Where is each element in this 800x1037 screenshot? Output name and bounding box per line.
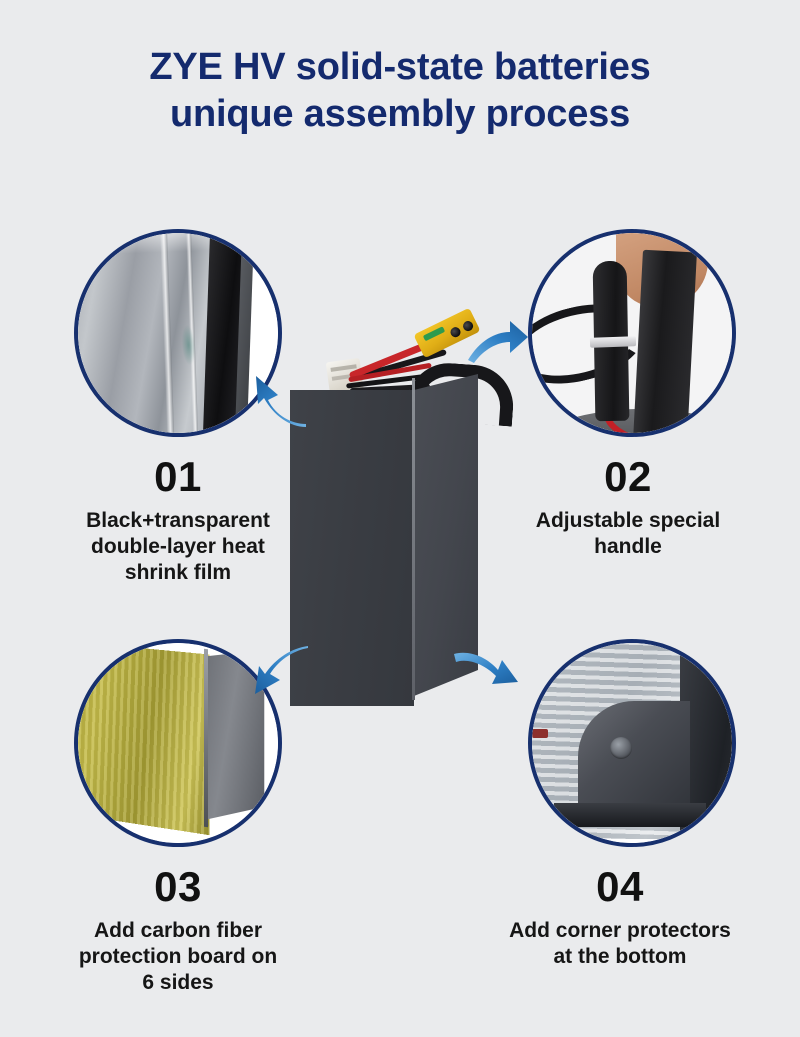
screw-hole-icon <box>610 737 632 759</box>
step-number-04: 04 <box>470 864 770 910</box>
step-text-02: Adjustable special handle <box>478 508 778 560</box>
step-text-01: Black+transparent double-layer heat shri… <box>28 508 328 586</box>
connector-green-stripe <box>423 326 445 341</box>
arrow-to-step-04-icon <box>452 648 522 699</box>
connector-pin-hole <box>449 326 462 339</box>
step-number-02: 02 <box>478 454 778 500</box>
strap-buckle <box>590 336 636 348</box>
step-photo-circle-01 <box>74 229 282 437</box>
title-line-1: ZYE HV solid-state batteries <box>0 44 800 91</box>
strap-tail <box>633 250 697 433</box>
title-line-2: unique assembly process <box>0 91 800 138</box>
battery-vertical-edge <box>412 378 415 700</box>
step-photo-circle-04 <box>528 639 736 847</box>
step-caption-04: 04 Add corner protectors at the bottom <box>470 864 770 970</box>
arrow-to-step-01-icon <box>252 374 308 433</box>
arrow-to-step-02-icon <box>466 318 530 369</box>
step-text-03: Add carbon fiber protection board on 6 s… <box>28 918 328 996</box>
corner-protector-base <box>554 803 706 827</box>
step-text-04: Add corner protectors at the bottom <box>470 918 770 970</box>
aramid-board-face <box>78 643 209 835</box>
film-green-tint <box>181 325 197 366</box>
carbon-fiber-board-photo <box>78 643 278 843</box>
shrink-film-photo <box>78 233 278 433</box>
step-photo-circle-03 <box>74 639 282 847</box>
step-caption-03: 03 Add carbon fiber protection board on … <box>28 864 328 996</box>
board-corner-seam <box>204 649 208 827</box>
step-photo-circle-02 <box>528 229 736 437</box>
step-caption-02: 02 Adjustable special handle <box>478 454 778 560</box>
red-wire-tip <box>532 729 548 738</box>
page-title: ZYE HV solid-state batteries unique asse… <box>0 44 800 138</box>
corner-protector-photo <box>532 643 732 843</box>
step-number-01: 01 <box>28 454 328 500</box>
arrow-to-step-03-icon <box>252 646 310 703</box>
step-caption-01: 01 Black+transparent double-layer heat s… <box>28 454 328 586</box>
step-number-03: 03 <box>28 864 328 910</box>
handle-strap-photo <box>532 233 732 433</box>
infographic-page: ZYE HV solid-state batteries unique asse… <box>0 0 800 1037</box>
